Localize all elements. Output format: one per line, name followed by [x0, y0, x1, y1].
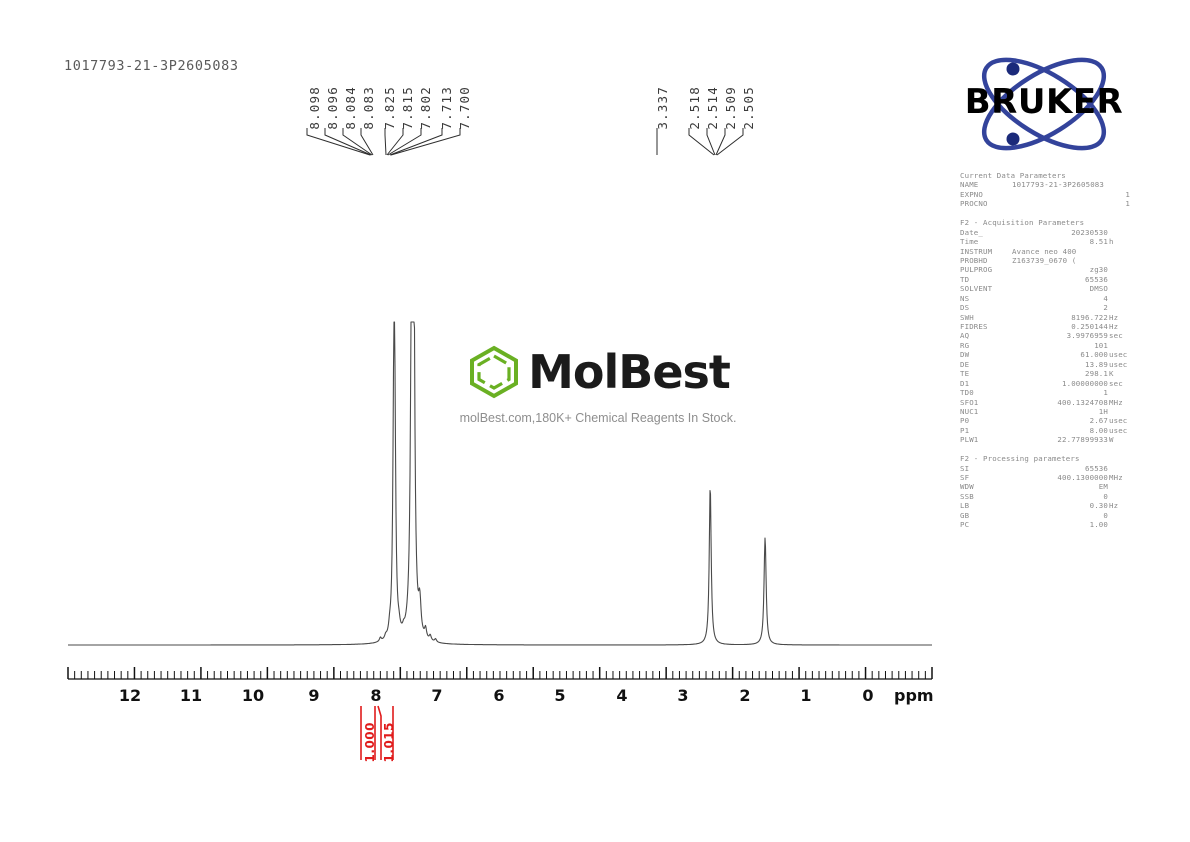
parameter-value: 2: [1103, 303, 1108, 312]
integration-labels: 1.000 1.015: [60, 700, 940, 770]
peak-label: 2.505: [741, 86, 756, 130]
parameter-row: PULPROG zg30: [960, 265, 1130, 274]
parameter-key: SF: [960, 473, 969, 482]
parameter-unit: h: [1109, 237, 1130, 246]
parameter-value: 65536: [1085, 275, 1108, 284]
parameter-row: SFO1 400.1324708 MHz: [960, 398, 1130, 407]
parameter-value: 65536: [1085, 464, 1108, 473]
peak-label-group-solvent: 3.337 2.518 2.514 2.509 2.505: [652, 60, 762, 130]
peak-label: 7.802: [418, 86, 433, 130]
parameter-key: SOLVENT: [960, 284, 992, 293]
spectrum-title: 1017793-21-3P2605083: [64, 58, 239, 74]
parameter-unit: K: [1109, 369, 1130, 378]
parameter-row: PC 1.00: [960, 520, 1130, 529]
parameter-key: PROBHD: [960, 256, 988, 265]
parameter-row: Time 8.51 h: [960, 237, 1130, 246]
parameter-row: P0 2.67 usec: [960, 416, 1130, 425]
parameter-key: PULPROG: [960, 265, 992, 274]
nmr-spectrum-page: 1017793-21-3P2605083 8.098 8.096 8.084 8…: [0, 0, 1190, 842]
peak-label: 8.083: [361, 86, 376, 130]
parameter-value: 1: [1125, 190, 1130, 199]
parameter-key: GB: [960, 511, 969, 520]
parameter-row: NAME 1017793-21-3P2605083: [960, 180, 1130, 189]
parameter-key: NS: [960, 294, 969, 303]
peak-label: 2.518: [687, 86, 702, 130]
parameter-unit: usec: [1109, 416, 1130, 425]
parameter-key: Date_: [960, 228, 983, 237]
parameter-key: EXPNO: [960, 190, 983, 199]
peak-label: 2.509: [723, 86, 738, 130]
parameter-key: DE: [960, 360, 969, 369]
parameter-value: 8.51: [1090, 237, 1108, 246]
bruker-logo: BRUKER: [958, 52, 1130, 156]
parameter-row: DW 61.000 usec: [960, 350, 1130, 359]
peak-label: 7.825: [382, 86, 397, 130]
parameter-row: PROBHD Z163739_0670 (: [960, 256, 1130, 265]
parameter-value: 1.00: [1090, 520, 1108, 529]
parameter-key: INSTRUM: [960, 247, 992, 256]
parameter-key: TE: [960, 369, 969, 378]
parameter-key: PLW1: [960, 435, 978, 444]
parameter-value: 22.77899933: [1057, 435, 1108, 444]
parameter-value: 400.1300000: [1057, 473, 1108, 482]
parameter-value: 1017793-21-3P2605083: [1012, 180, 1104, 189]
parameter-key: FIDRES: [960, 322, 988, 331]
parameter-row: LB 0.30 Hz: [960, 501, 1130, 510]
parameter-key: PROCNO: [960, 199, 988, 208]
parameter-key: NAME: [960, 180, 978, 189]
parameter-unit: Hz: [1109, 313, 1130, 322]
bruker-node-top: [1007, 63, 1020, 76]
parameter-row: FIDRES 0.250144 Hz: [960, 322, 1130, 331]
parameter-row: EXPNO 1: [960, 190, 1130, 199]
parameter-unit: usec: [1109, 350, 1130, 359]
parameter-value: Z163739_0670 (: [1012, 256, 1076, 265]
peak-label: 2.514: [705, 86, 720, 130]
parameter-row: AQ 3.9976959 sec: [960, 331, 1130, 340]
parameter-unit: MHz: [1109, 473, 1130, 482]
parameter-key: TD: [960, 275, 969, 284]
parameter-value: 61.000: [1080, 350, 1108, 359]
parameter-value: DMSO: [1090, 284, 1108, 293]
parameter-value: 101: [1094, 341, 1108, 350]
parameter-value: EM: [1099, 482, 1108, 491]
peak-label: 7.815: [400, 86, 415, 130]
parameter-row: SF 400.1300000 MHz: [960, 473, 1130, 482]
parameter-value: 0.250144: [1071, 322, 1108, 331]
parameter-key: Time: [960, 237, 978, 246]
parameter-unit: W: [1109, 435, 1130, 444]
parameter-key: PC: [960, 520, 969, 529]
parameter-key: TD0: [960, 388, 974, 397]
parameter-key: SI: [960, 464, 969, 473]
parameter-row: TD0 1: [960, 388, 1130, 397]
parameter-unit: usec: [1109, 426, 1130, 435]
integral-value: 1.015: [382, 722, 396, 762]
parameters-section-heading: Current Data Parameters: [960, 171, 1130, 180]
parameter-row: P1 8.00 usec: [960, 426, 1130, 435]
parameter-key: P0: [960, 416, 969, 425]
parameter-unit: sec: [1109, 379, 1130, 388]
bruker-wordmark: BRUKER: [965, 82, 1123, 122]
parameter-key: D1: [960, 379, 969, 388]
peak-label: 7.713: [439, 86, 454, 130]
peak-label-group-aromatic: 8.098 8.096 8.084 8.083 7.825 7.815 7.80…: [303, 60, 478, 130]
parameter-key: SSB: [960, 492, 974, 501]
parameter-row: WDW EM: [960, 482, 1130, 491]
parameter-unit: Hz: [1109, 322, 1130, 331]
peak-label: 8.084: [343, 86, 358, 130]
parameter-value: 1: [1125, 199, 1130, 208]
parameter-value: 20230530: [1071, 228, 1108, 237]
parameter-row: PLW1 22.77899933 W: [960, 435, 1130, 444]
parameter-key: SFO1: [960, 398, 978, 407]
parameter-value: 0.30: [1090, 501, 1108, 510]
parameter-value: 4: [1103, 294, 1108, 303]
parameter-row: D1 1.00000000 sec: [960, 379, 1130, 388]
peak-leader-lines: [300, 128, 770, 156]
parameter-key: WDW: [960, 482, 974, 491]
parameter-row: SI 65536: [960, 464, 1130, 473]
parameter-value: Avance neo 400: [1012, 247, 1076, 256]
parameter-key: DW: [960, 350, 969, 359]
parameter-key: DS: [960, 303, 969, 312]
parameter-unit: sec: [1109, 331, 1130, 340]
parameter-unit: MHz: [1109, 398, 1130, 407]
parameter-row: RG 101: [960, 341, 1130, 350]
parameter-unit: Hz: [1109, 501, 1130, 510]
integral-brackets: [60, 700, 940, 770]
parameter-row: GB 0: [960, 511, 1130, 520]
acquisition-parameter-panel: Current Data Parameters NAME 1017793-21-…: [960, 171, 1130, 530]
parameter-key: NUC1: [960, 407, 978, 416]
parameter-value: 2.67: [1090, 416, 1108, 425]
parameter-value: zg30: [1090, 265, 1108, 274]
parameter-row: DE 13.89 usec: [960, 360, 1130, 369]
spectrum-trace: [60, 300, 940, 650]
integral-value: 1.000: [363, 722, 377, 762]
parameter-row: Date_ 20230530: [960, 228, 1130, 237]
parameter-row: PROCNO 1: [960, 199, 1130, 208]
parameter-row: NUC1 1H: [960, 407, 1130, 416]
parameter-row: SWH 8196.722 Hz: [960, 313, 1130, 322]
parameter-row: TD 65536: [960, 275, 1130, 284]
parameter-value: 1: [1103, 388, 1108, 397]
parameter-row: SSB 0: [960, 492, 1130, 501]
parameter-row: NS 4: [960, 294, 1130, 303]
parameter-row: INSTRUM Avance neo 400: [960, 247, 1130, 256]
parameter-key: LB: [960, 501, 969, 510]
parameter-value: 3.9976959: [1067, 331, 1108, 340]
parameter-key: SWH: [960, 313, 974, 322]
parameter-key: P1: [960, 426, 969, 435]
spectrum-baseline-trace: [68, 322, 932, 645]
parameter-value: 8196.722: [1071, 313, 1108, 322]
parameter-value: 1.00000000: [1062, 379, 1108, 388]
peak-label: 8.096: [325, 86, 340, 130]
parameter-row: DS 2: [960, 303, 1130, 312]
peak-label: 3.337: [655, 86, 670, 130]
parameter-value: 400.1324708: [1057, 398, 1108, 407]
parameter-row: SOLVENT DMSO: [960, 284, 1130, 293]
parameter-value: 8.00: [1090, 426, 1108, 435]
parameter-key: AQ: [960, 331, 969, 340]
parameter-value: 298.1: [1085, 369, 1108, 378]
parameter-value: 0: [1103, 511, 1108, 520]
peak-label: 7.700: [457, 86, 472, 130]
parameter-value: 13.89: [1085, 360, 1108, 369]
parameter-value: 1H: [1099, 407, 1108, 416]
parameter-value: 0: [1103, 492, 1108, 501]
parameter-key: RG: [960, 341, 969, 350]
parameter-row: TE 298.1 K: [960, 369, 1130, 378]
parameter-unit: usec: [1109, 360, 1130, 369]
bruker-node-bottom: [1007, 133, 1020, 146]
peak-label: 8.098: [307, 86, 322, 130]
